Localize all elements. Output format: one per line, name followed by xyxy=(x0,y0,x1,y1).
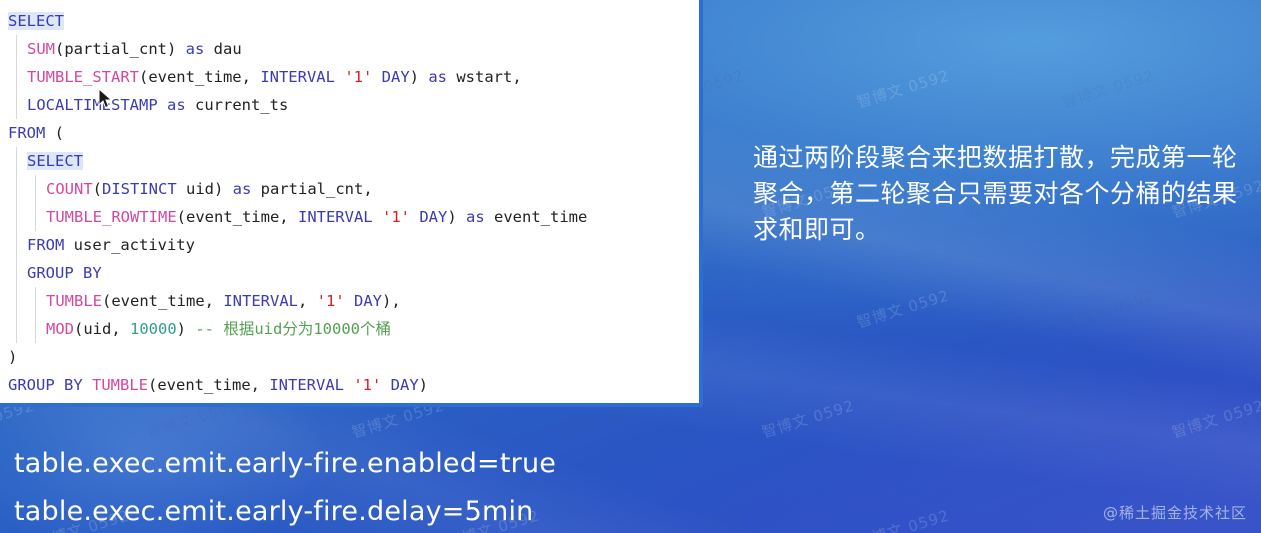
watermark-text: 智博文 0592 xyxy=(1169,0,1261,3)
indent-guide xyxy=(16,91,17,119)
code-token: DAY xyxy=(382,68,410,86)
code-token: FROM xyxy=(27,236,64,254)
code-token xyxy=(335,68,344,86)
indent-guide xyxy=(16,63,17,91)
code-token: SELECT xyxy=(27,152,83,170)
code-token: GROUP BY xyxy=(8,376,83,394)
code-token: ), xyxy=(382,292,401,310)
code-token: GROUP BY xyxy=(27,264,102,282)
code-token: TUMBLE_START xyxy=(27,68,139,86)
code-token: ) xyxy=(410,68,429,86)
code-token: event_time xyxy=(485,208,588,226)
code-token: (uid, xyxy=(74,320,130,338)
config-line-early-fire-enabled: table.exec.emit.early-fire.enabled=true xyxy=(14,440,556,488)
indent-guide xyxy=(35,203,36,231)
code-token: DAY xyxy=(419,208,447,226)
watermark-text: 智博文 0592 xyxy=(854,504,952,533)
code-token: '1' xyxy=(353,376,381,394)
code-token: TUMBLE xyxy=(46,292,102,310)
code-token: DAY xyxy=(354,292,382,310)
code-token: MOD xyxy=(46,320,74,338)
config-lines: table.exec.emit.early-fire.enabled=true … xyxy=(14,440,556,533)
code-token: LOCALTIMESTAMP xyxy=(27,96,158,114)
code-line: SUM(partial_cnt) as dau xyxy=(8,35,699,63)
code-token: '1' xyxy=(344,68,372,86)
code-token: as xyxy=(466,208,485,226)
watermark-text: 智博文 0592 xyxy=(854,64,952,112)
code-token: TUMBLE xyxy=(92,376,148,394)
code-line: FROM user_activity xyxy=(8,231,699,259)
code-token: (partial_cnt) xyxy=(55,40,186,58)
code-token: DAY xyxy=(391,376,419,394)
watermark-text: 智博文 0592 xyxy=(964,394,1062,442)
watermark-text: 智博文 0592 xyxy=(1059,64,1157,112)
indent-guide xyxy=(35,175,36,203)
code-token: ) xyxy=(177,320,196,338)
watermark-text: 智博文 0592 xyxy=(1059,284,1157,332)
watermark-text: 智博文 0592 xyxy=(759,394,857,442)
indent-guide xyxy=(16,259,17,287)
code-line: TUMBLE_START(event_time, INTERVAL '1' DA… xyxy=(8,63,699,91)
code-token: '1' xyxy=(317,292,345,310)
indent-guide xyxy=(16,231,17,259)
code-token: TUMBLE_ROWTIME xyxy=(46,208,177,226)
code-token: INTERVAL xyxy=(269,376,344,394)
indent-guide xyxy=(16,315,17,343)
code-token: ( xyxy=(93,180,102,198)
watermark-text: 智博文 0592 xyxy=(1169,394,1261,442)
code-token: SELECT xyxy=(8,12,64,30)
watermark-text: 智博文 0592 xyxy=(649,504,747,533)
code-token: , xyxy=(298,292,317,310)
code-token: as xyxy=(186,40,205,58)
code-token: ) xyxy=(447,208,466,226)
slide-root: 智博文 0592智博文 0592智博文 0592智博文 0592智博文 0592… xyxy=(0,0,1261,533)
code-line: SELECT xyxy=(8,7,699,35)
watermark-text: 智博文 0592 xyxy=(964,0,1062,3)
code-token: SUM xyxy=(27,40,55,58)
code-token xyxy=(345,292,354,310)
code-token: INTERVAL xyxy=(223,292,298,310)
code-token: (event_time, xyxy=(139,68,260,86)
indent-guide xyxy=(16,147,17,175)
code-token: wstart, xyxy=(447,68,522,86)
code-line: TUMBLE_ROWTIME(event_time, INTERVAL '1' … xyxy=(8,203,699,231)
code-token: as xyxy=(233,180,252,198)
code-token: DISTINCT xyxy=(102,180,177,198)
code-token xyxy=(372,68,381,86)
code-token: partial_cnt, xyxy=(251,180,372,198)
code-token: COUNT xyxy=(46,180,93,198)
code-token xyxy=(381,376,390,394)
code-token: ) xyxy=(419,376,428,394)
code-token: 10000 xyxy=(130,320,177,338)
indent-guide xyxy=(35,287,36,315)
code-line: ) xyxy=(8,343,699,371)
code-token: uid) xyxy=(177,180,233,198)
indent-guide xyxy=(35,315,36,343)
code-token: user_activity xyxy=(64,236,195,254)
code-token: INTERVAL xyxy=(260,68,335,86)
code-line: FROM ( xyxy=(8,119,699,147)
code-line: SELECT xyxy=(8,147,699,175)
code-line: TUMBLE(event_time, INTERVAL, '1' DAY), xyxy=(8,287,699,315)
code-token: FROM xyxy=(8,124,45,142)
code-token: as xyxy=(428,68,447,86)
code-line: LOCALTIMESTAMP as current_ts xyxy=(8,91,699,119)
indent-guide xyxy=(16,287,17,315)
code-token: '1' xyxy=(382,208,410,226)
code-line: GROUP BY xyxy=(8,259,699,287)
code-token xyxy=(410,208,419,226)
code-token: -- 根据uid分为10000个桶 xyxy=(195,320,391,338)
indent-guide xyxy=(16,203,17,231)
watermark-text: 智博文 0592 xyxy=(854,284,952,332)
code-line: COUNT(DISTINCT uid) as partial_cnt, xyxy=(8,175,699,203)
code-token: ( xyxy=(45,124,64,142)
code-token: current_ts xyxy=(186,96,289,114)
attribution-label: @稀土掘金技术社区 xyxy=(1103,502,1247,523)
code-line: MOD(uid, 10000) -- 根据uid分为10000个桶 xyxy=(8,315,699,343)
code-token: ) xyxy=(8,348,17,366)
code-panel[interactable]: SELECTSUM(partial_cnt) as dauTUMBLE_STAR… xyxy=(0,0,703,407)
code-content: SELECTSUM(partial_cnt) as dauTUMBLE_STAR… xyxy=(0,0,699,399)
code-token: as xyxy=(167,96,186,114)
code-token: INTERVAL xyxy=(298,208,373,226)
code-token: (event_time, xyxy=(177,208,298,226)
code-line: GROUP BY TUMBLE(event_time, INTERVAL '1'… xyxy=(8,371,699,399)
code-token: (event_time, xyxy=(148,376,269,394)
watermark-text: 智博文 0592 xyxy=(759,0,857,3)
code-token: dau xyxy=(204,40,241,58)
code-token xyxy=(83,376,92,394)
code-token xyxy=(373,208,382,226)
indent-guide xyxy=(16,175,17,203)
config-line-early-fire-delay: table.exec.emit.early-fire.delay=5min xyxy=(14,488,556,533)
code-token: (event_time, xyxy=(102,292,223,310)
caption-text: 通过两阶段聚合来把数据打散，完成第一轮聚合，第二轮聚合只需要对各个分桶的结果求和… xyxy=(753,140,1248,248)
indent-guide xyxy=(16,35,17,63)
code-token xyxy=(158,96,167,114)
code-token xyxy=(344,376,353,394)
